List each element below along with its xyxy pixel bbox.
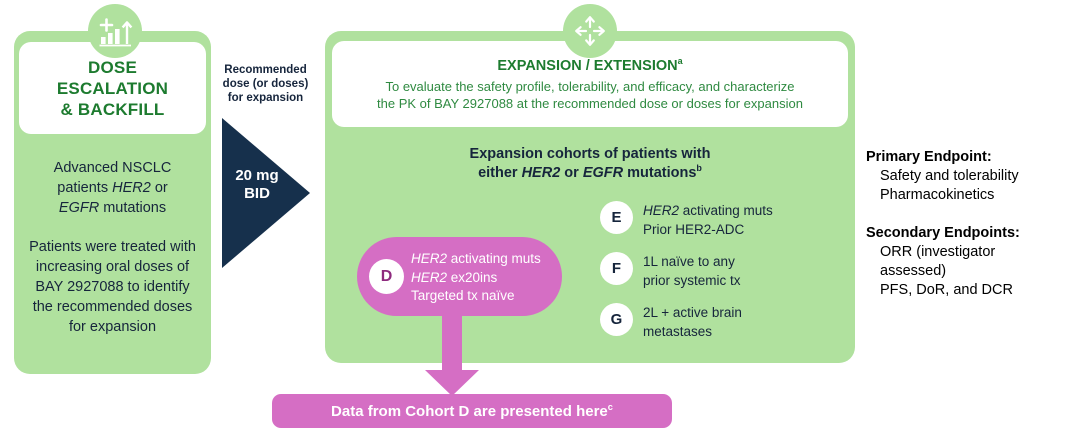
expansion-cohort-header: Expansion cohorts of patients witheither… [345, 145, 835, 183]
primary-endpoint-list: Safety and tolerability Pharmacokinetics [866, 167, 1071, 205]
dose-escalation-title: DOSE ESCALATION & BACKFILL [57, 57, 168, 120]
cohort-row-g: G 2L + active brainmetastases [600, 303, 742, 341]
recommended-dose-caption: Recommendeddose (or doses)for expansion [216, 63, 315, 105]
dose-label: 20 mgBID [222, 167, 292, 203]
cohort-e-badge: E [600, 201, 633, 234]
cohort-d-text: HER2 activating mutsHER2 ex20insTargeted… [411, 250, 561, 306]
primary-endpoint-heading: Primary Endpoint: [866, 148, 1071, 167]
data-presented-banner: Data from Cohort D are presented herec [272, 394, 672, 428]
cohort-d-arrow-icon [425, 370, 479, 396]
cohort-f-badge: F [600, 252, 633, 285]
secondary-endpoint-item: PFS, DoR, and DCR [880, 281, 1071, 300]
data-presented-banner-text: Data from Cohort D are presented herec [331, 403, 613, 420]
dose-escalation-icon [88, 4, 142, 58]
dose-escalation-population-text: Advanced NSCLCpatients HER2 orEGFR mutat… [16, 158, 209, 218]
expansion-title: EXPANSION / EXTENSIONa [497, 57, 682, 75]
secondary-endpoint-item: ORR (investigatorassessed) [880, 243, 1071, 281]
cohort-row-f: F 1L naïve to anyprior systemic tx [600, 252, 741, 290]
title-line-3: & BACKFILL [61, 100, 165, 119]
secondary-endpoint-heading: Secondary Endpoints: [866, 224, 1071, 243]
expand-arrows-icon [563, 4, 617, 58]
cohort-f-text: 1L naïve to anyprior systemic tx [643, 252, 741, 290]
cohort-g-badge: G [600, 303, 633, 336]
cohort-row-e: E HER2 activating mutsPrior HER2-ADC [600, 201, 773, 239]
endpoints-column: Primary Endpoint: Safety and tolerabilit… [866, 148, 1071, 300]
primary-endpoint-item: Pharmacokinetics [880, 186, 1071, 205]
expansion-subtitle: To evaluate the safety profile, tolerabi… [377, 78, 803, 112]
cohort-g-text: 2L + active brainmetastases [643, 303, 742, 341]
cohort-d-badge: D [369, 259, 404, 294]
cohort-d-connector [442, 310, 462, 372]
secondary-endpoint-list: ORR (investigatorassessed) PFS, DoR, and… [866, 243, 1071, 300]
endpoints-spacer [866, 205, 1071, 224]
title-line-1: DOSE [88, 58, 137, 77]
primary-endpoint-item: Safety and tolerability [880, 167, 1071, 186]
cohort-e-text: HER2 activating mutsPrior HER2-ADC [643, 201, 773, 239]
dose-escalation-description-text: Patients were treated withincreasing ora… [12, 237, 213, 337]
title-line-2: ESCALATION [57, 79, 168, 98]
study-design-diagram: DOSE ESCALATION & BACKFILL Advanced NSCL… [0, 0, 1080, 438]
